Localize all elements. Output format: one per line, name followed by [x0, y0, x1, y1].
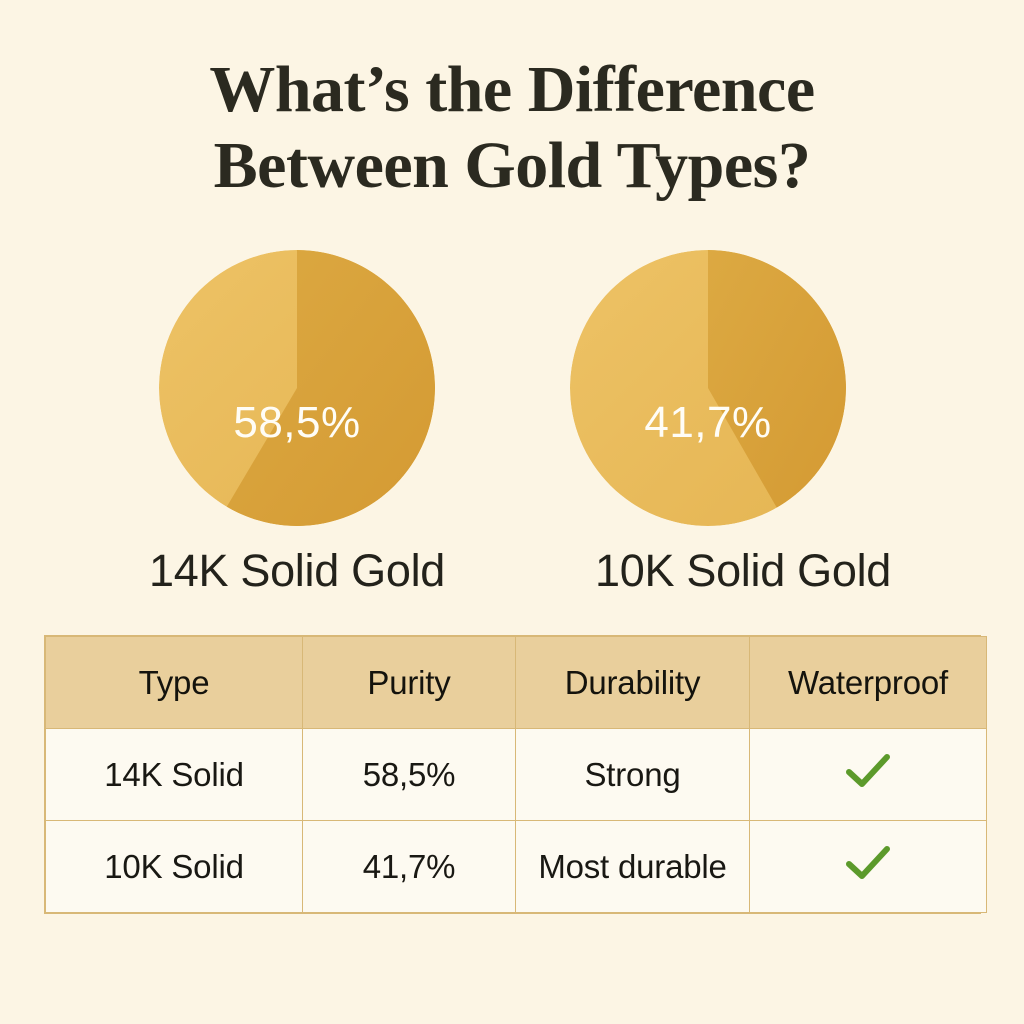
cell-purity-14k: 58,5% — [303, 729, 516, 821]
title-line-1: What’s the Difference — [0, 52, 1024, 128]
pie-chart-group: 58,5% 41,7% — [0, 250, 1024, 540]
comparison-table: Type Purity Durability Waterproof 14K So… — [44, 635, 981, 914]
pie-caption-14k: 14K Solid Gold — [87, 545, 507, 597]
checkmark-icon — [845, 845, 891, 881]
cell-waterproof-14k — [750, 729, 987, 821]
pie-caption-group: 14K Solid Gold 10K Solid Gold — [0, 545, 1024, 605]
header-durability: Durability — [516, 637, 750, 729]
pie-10k-svg — [570, 250, 846, 526]
pie-14k-svg — [159, 250, 435, 526]
page-title: What’s the Difference Between Gold Types… — [0, 52, 1024, 204]
pie-14k-graphic: 58,5% — [159, 250, 435, 526]
cell-purity-10k: 41,7% — [303, 821, 516, 913]
cell-type-10k: 10K Solid — [46, 821, 303, 913]
title-line-2: Between Gold Types? — [0, 128, 1024, 204]
checkmark-icon-svg — [845, 753, 891, 789]
checkmark-icon-svg — [845, 845, 891, 881]
header-waterproof: Waterproof — [750, 637, 987, 729]
header-purity: Purity — [303, 637, 516, 729]
cell-durability-14k: Strong — [516, 729, 750, 821]
cell-durability-10k: Most durable — [516, 821, 750, 913]
pie-chart-14k: 58,5% — [159, 250, 435, 526]
table-row: 14K Solid 58,5% Strong — [46, 729, 987, 821]
pie-chart-10k: 41,7% — [570, 250, 846, 526]
cell-waterproof-10k — [750, 821, 987, 913]
checkmark-icon — [845, 753, 891, 789]
table-row: 10K Solid 41,7% Most durable — [46, 821, 987, 913]
pie-caption-10k: 10K Solid Gold — [533, 545, 953, 597]
cell-type-14k: 14K Solid — [46, 729, 303, 821]
header-type: Type — [46, 637, 303, 729]
table-header-row: Type Purity Durability Waterproof — [46, 637, 987, 729]
pie-10k-graphic: 41,7% — [570, 250, 846, 526]
